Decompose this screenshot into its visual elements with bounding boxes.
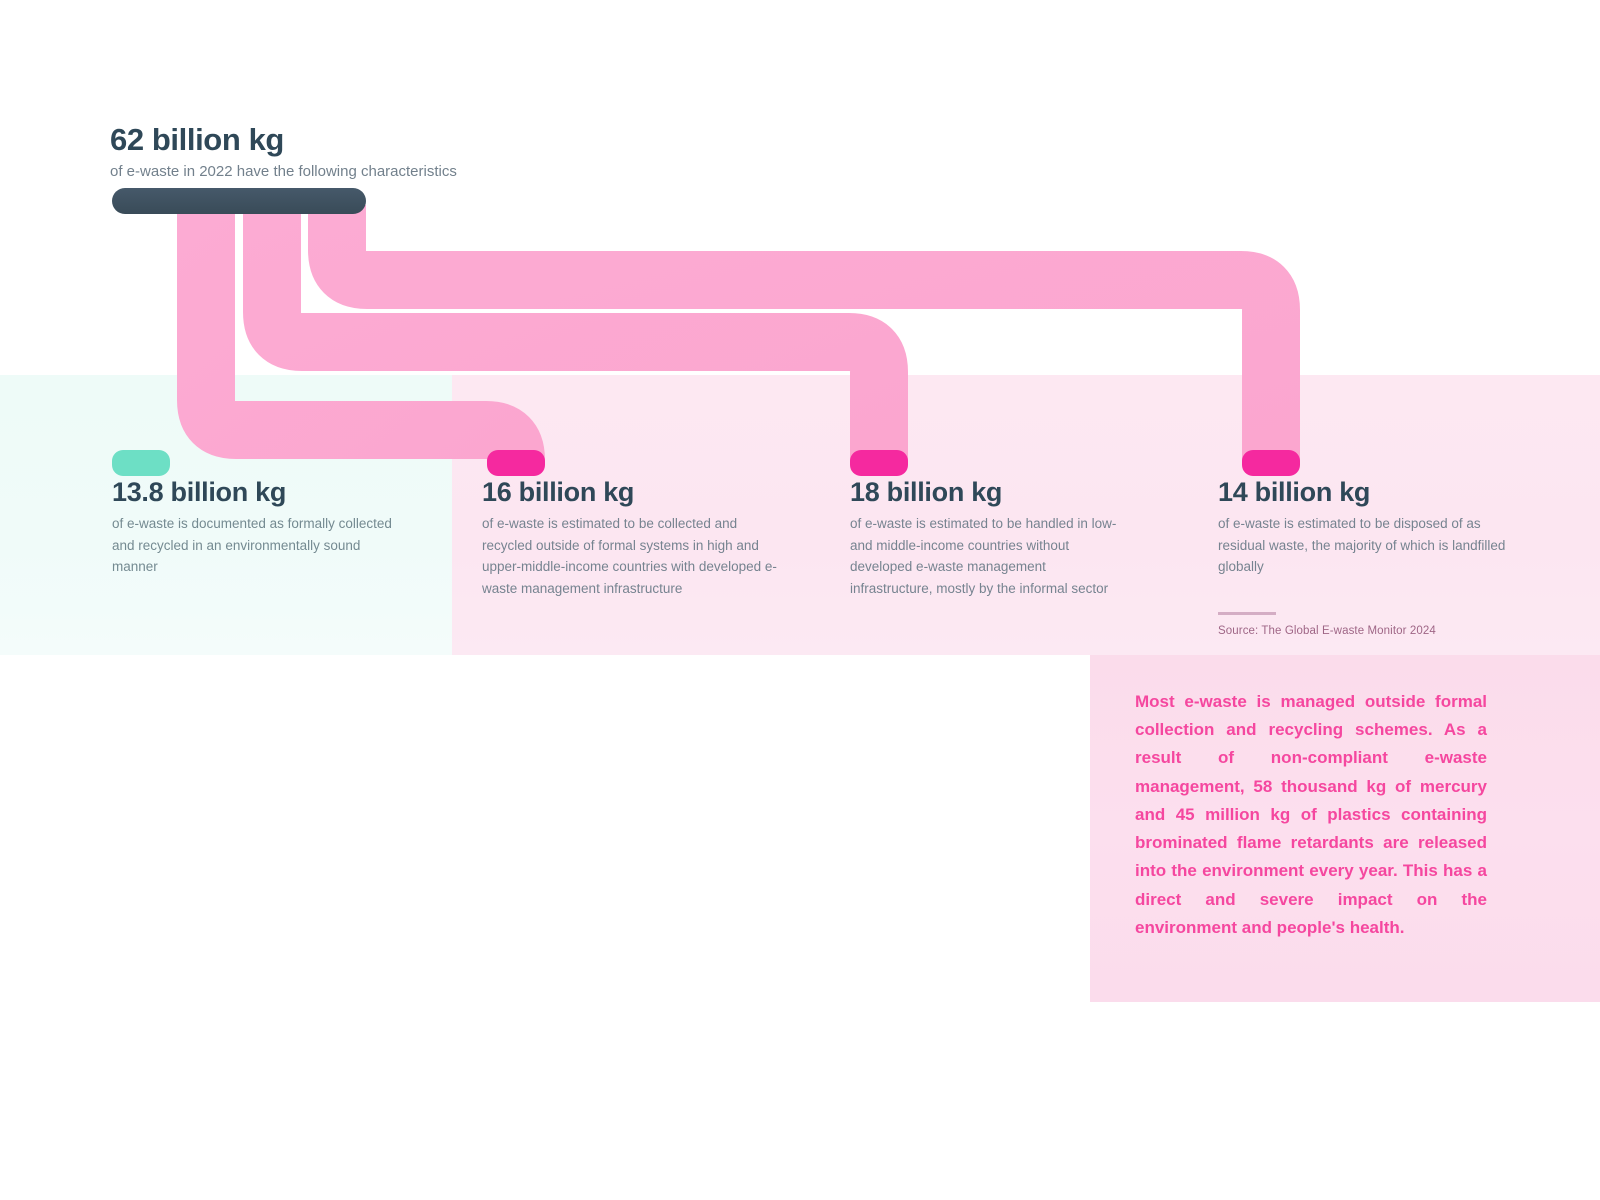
- callout-block: Most e-waste is managed outside formal c…: [1135, 688, 1487, 942]
- node-cap-1: [487, 450, 545, 476]
- source-label: Source: The Global E-waste Monitor 2024: [1218, 624, 1518, 639]
- node-value-1: 16 billion kg: [482, 478, 782, 508]
- node-cap-3: [1242, 450, 1300, 476]
- node-cap-2: [850, 450, 908, 476]
- callout-text: Most e-waste is managed outside formal c…: [1135, 688, 1487, 942]
- sankey-node-label-1: 16 billion kg of e-waste is estimated to…: [482, 478, 782, 600]
- node-value-0: 13.8 billion kg: [112, 478, 402, 508]
- page-subtitle: of e-waste in 2022 have the following ch…: [110, 163, 1010, 182]
- sankey-node-label-2: 18 billion kg of e-waste is estimated to…: [850, 478, 1132, 600]
- source-node-bar: [112, 188, 366, 214]
- sankey-diagram: [0, 0, 1600, 700]
- source-divider: [1218, 612, 1276, 615]
- node-description-0: of e-waste is documented as formally col…: [112, 513, 402, 579]
- sankey-node-label-0: 13.8 billion kg of e-waste is documented…: [112, 478, 402, 578]
- node-description-2: of e-waste is estimated to be handled in…: [850, 513, 1132, 600]
- header-block: 62 billion kg of e-waste in 2022 have th…: [110, 124, 1010, 181]
- node-value-3: 14 billion kg: [1218, 478, 1518, 508]
- node-description-3: of e-waste is estimated to be disposed o…: [1218, 513, 1518, 579]
- source-attribution: Source: The Global E-waste Monitor 2024: [1218, 612, 1518, 638]
- node-value-2: 18 billion kg: [850, 478, 1132, 508]
- node-cap-0: [112, 450, 170, 476]
- node-description-1: of e-waste is estimated to be collected …: [482, 513, 782, 600]
- sankey-node-label-3: 14 billion kg of e-waste is estimated to…: [1218, 478, 1518, 578]
- page-title: 62 billion kg: [110, 124, 1010, 157]
